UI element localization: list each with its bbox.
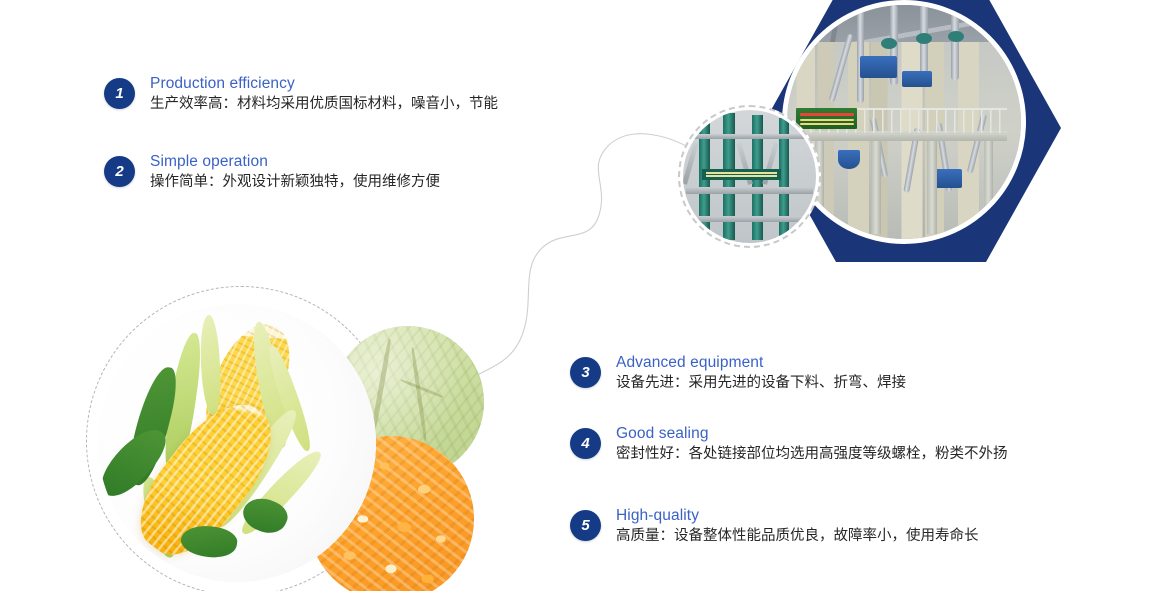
feature-item-2[interactable]: 2 Simple operation 操作简单：外观设计新颖独特，使用维修方便 <box>104 154 440 189</box>
feature-desc-5: 高质量：设备整体性能品质优良，故障率小，使用寿命长 <box>616 529 979 544</box>
feature-badge-3: 3 <box>570 357 601 388</box>
feature-title-4: Good sealing <box>616 426 1008 442</box>
feature-desc-3: 设备先进：采用先进的设备下料、折弯、焊接 <box>616 376 906 391</box>
feature-badge-5: 5 <box>570 510 601 541</box>
feature-text-5: High-quality 高质量：设备整体性能品质优良，故障率小，使用寿命长 <box>616 508 979 543</box>
feature-title-1: Production efficiency <box>150 76 498 92</box>
feature-text-4: Good sealing 密封性好：各处链接部位均选用高强度等级螺栓，粉类不外扬 <box>616 426 1008 461</box>
feature-badge-4: 4 <box>570 428 601 459</box>
feature-text-3: Advanced equipment 设备先进：采用先进的设备下料、折弯、焊接 <box>616 355 906 390</box>
feature-title-5: High-quality <box>616 508 979 524</box>
teal-machinery-workshop-photo <box>678 105 821 248</box>
feature-badge-1: 1 <box>104 78 135 109</box>
workshop-photo-content <box>683 110 816 243</box>
flour-mill-plant-photo <box>782 0 1026 244</box>
workshop-green-banner <box>702 169 782 181</box>
factory-photo-content <box>787 5 1021 239</box>
feature-desc-2: 操作简单：外观设计新颖独特，使用维修方便 <box>150 175 440 190</box>
feature-title-3: Advanced equipment <box>616 355 906 371</box>
feature-item-4[interactable]: 4 Good sealing 密封性好：各处链接部位均选用高强度等级螺栓，粉类不… <box>570 426 1008 461</box>
feature-badge-2: 2 <box>104 156 135 187</box>
feature-text-1: Production efficiency 生产效率高：材料均采用优质国标材料，… <box>150 76 498 111</box>
feature-text-2: Simple operation 操作简单：外观设计新颖独特，使用维修方便 <box>150 154 440 189</box>
feature-item-5[interactable]: 5 High-quality 高质量：设备整体性能品质优良，故障率小，使用寿命长 <box>570 508 979 543</box>
corn-photo-content <box>98 304 376 582</box>
feature-desc-1: 生产效率高：材料均采用优质国标材料，噪音小，节能 <box>150 97 498 112</box>
feature-item-3[interactable]: 3 Advanced equipment 设备先进：采用先进的设备下料、折弯、焊… <box>570 355 906 390</box>
feature-desc-4: 密封性好：各处链接部位均选用高强度等级螺栓，粉类不外扬 <box>616 447 1008 462</box>
infographic-canvas: 1 Production efficiency 生产效率高：材料均采用优质国标材… <box>0 0 1154 591</box>
corn-photo-group <box>86 284 486 591</box>
feature-title-2: Simple operation <box>150 154 440 170</box>
fresh-corn-cobs-photo <box>98 304 376 582</box>
feature-item-1[interactable]: 1 Production efficiency 生产效率高：材料均采用优质国标材… <box>104 76 498 111</box>
hexagon-photo-group <box>660 0 1154 284</box>
